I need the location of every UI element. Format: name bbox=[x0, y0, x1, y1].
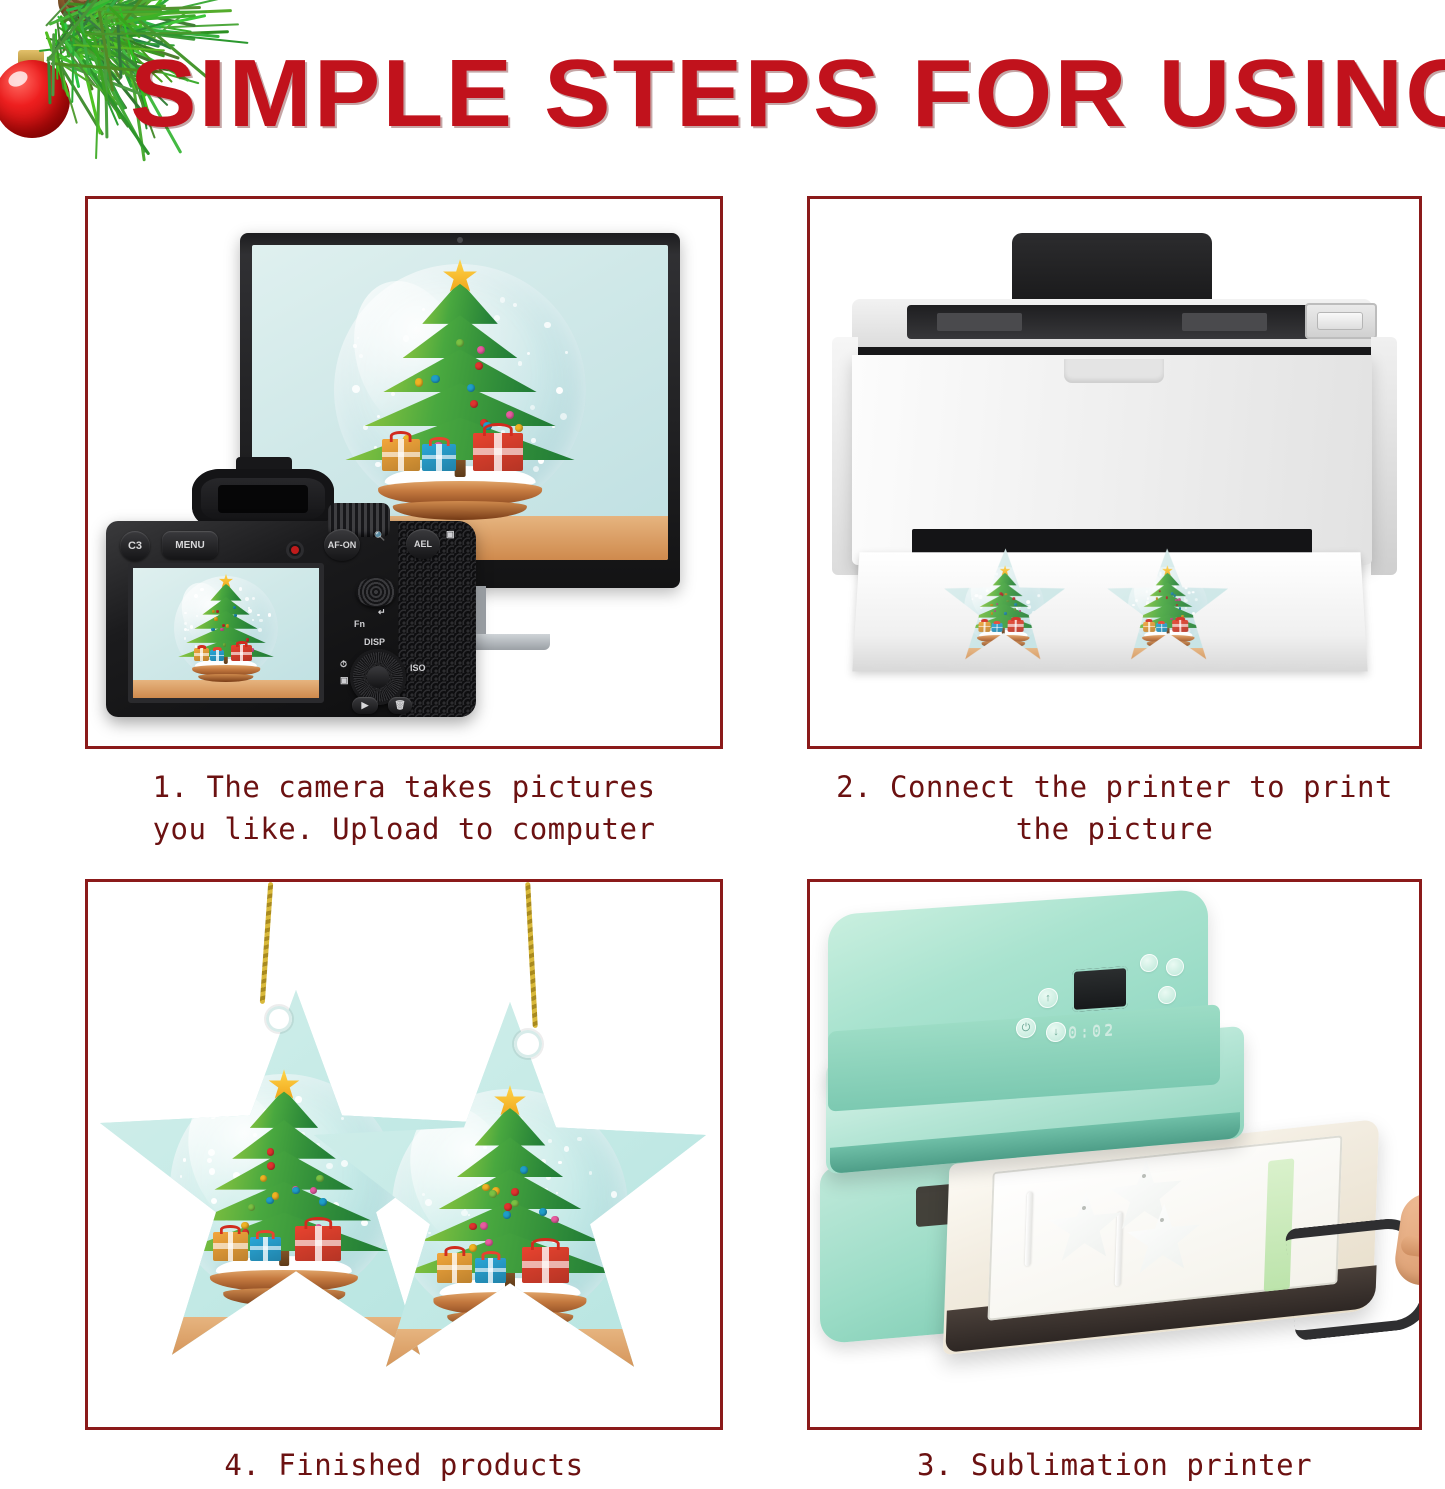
gift-ribbon-horizontal bbox=[213, 1243, 247, 1248]
artwork-gift-box bbox=[210, 650, 224, 661]
snow-dot bbox=[295, 1096, 301, 1102]
artwork-bauble bbox=[489, 1190, 497, 1198]
artwork-bauble bbox=[1004, 593, 1007, 596]
artwork-bauble bbox=[1165, 596, 1168, 599]
ornament-hole-2 bbox=[514, 1030, 542, 1058]
snow-dot bbox=[531, 438, 536, 443]
heat-press-timer-value: 0:02 bbox=[1068, 1020, 1116, 1041]
snow-dot bbox=[611, 1191, 618, 1198]
step-panel-3: ↑ ⏻ ↓ 0:02 bbox=[807, 879, 1422, 1430]
disp-label[interactable]: DISP bbox=[364, 637, 385, 647]
delete-icon[interactable]: 🗑 bbox=[388, 697, 412, 714]
gift-ribbon-horizontal bbox=[1143, 626, 1155, 628]
snow-dot bbox=[468, 1214, 470, 1216]
snow-dot bbox=[1184, 599, 1188, 603]
artwork-bauble bbox=[431, 375, 439, 383]
snow-dot bbox=[1188, 592, 1191, 595]
artwork-bauble bbox=[480, 1222, 488, 1230]
artwork-gift-box bbox=[473, 433, 523, 471]
snow-dot bbox=[987, 581, 989, 583]
step-panel-1: C3 MENU AF-ON AEL 🔍 ▣ Fn ↵ DISP ⏱ ▣ ISO … bbox=[85, 196, 723, 749]
artwork-bauble bbox=[248, 1204, 255, 1211]
gift-ribbon-horizontal bbox=[1156, 627, 1167, 629]
gift-ribbon-horizontal bbox=[991, 627, 1002, 629]
artwork-bauble bbox=[292, 1187, 299, 1194]
snow-dot bbox=[1132, 604, 1134, 606]
snow-dot bbox=[1185, 583, 1189, 586]
snow-dot bbox=[199, 1215, 203, 1219]
snow-dot bbox=[180, 1175, 183, 1178]
iso-label[interactable]: ISO bbox=[410, 663, 426, 673]
artwork-gift-box bbox=[991, 623, 1002, 631]
artwork-bauble bbox=[475, 362, 483, 370]
ael-button[interactable]: AEL bbox=[406, 529, 440, 559]
snow-dot bbox=[259, 619, 263, 623]
artwork-gift-box bbox=[1172, 620, 1188, 632]
gift-bow bbox=[256, 1230, 274, 1238]
artwork-bauble bbox=[1178, 599, 1181, 602]
camera-lcd-screen bbox=[128, 563, 324, 703]
magnify-icon: 🔍 bbox=[374, 531, 385, 542]
snow-dot bbox=[425, 1199, 431, 1205]
artwork-gift-box bbox=[475, 1258, 507, 1283]
artwork-bauble bbox=[241, 1222, 248, 1229]
snow-dot bbox=[361, 1220, 368, 1227]
snow-dot bbox=[253, 1133, 257, 1137]
snow-dot bbox=[513, 303, 517, 307]
gift-ribbon-horizontal bbox=[194, 653, 210, 655]
artwork-bauble bbox=[485, 1239, 493, 1247]
exposure-lock-icon: ▣ bbox=[446, 529, 455, 540]
snow-dot bbox=[483, 1301, 487, 1305]
artwork-bauble bbox=[467, 384, 475, 392]
gift-bow bbox=[389, 431, 412, 442]
artwork-bauble bbox=[539, 1208, 547, 1216]
snow-dot bbox=[187, 629, 189, 631]
artwork-bauble bbox=[234, 614, 237, 617]
artwork-gift-box bbox=[1143, 622, 1155, 632]
gift-bow bbox=[1146, 619, 1153, 622]
snow-dot bbox=[589, 1171, 593, 1175]
snow-dot bbox=[189, 1219, 195, 1225]
fn-button-label[interactable]: Fn bbox=[354, 619, 365, 629]
artwork-gift-box bbox=[213, 1232, 247, 1261]
gift-bow bbox=[1175, 616, 1185, 620]
snow-dot bbox=[533, 466, 539, 472]
artwork-floor bbox=[1106, 649, 1232, 666]
snow-dot bbox=[1131, 610, 1134, 613]
gift-bow bbox=[1011, 616, 1021, 620]
artwork-bauble bbox=[1012, 597, 1015, 600]
snow-dot bbox=[239, 587, 243, 591]
printer-control-panel[interactable] bbox=[1305, 303, 1377, 339]
gift-ribbon-horizontal bbox=[437, 1265, 472, 1270]
snow-dot bbox=[326, 1163, 333, 1170]
artwork-bauble bbox=[1000, 592, 1003, 595]
heat-press-machine: ↑ ⏻ ↓ 0:02 bbox=[820, 892, 1420, 1412]
snow-dot bbox=[194, 594, 198, 598]
snow-dot bbox=[461, 1210, 467, 1216]
gift-ribbon-horizontal bbox=[1008, 624, 1024, 626]
gift-bow bbox=[483, 423, 513, 436]
artwork-floor bbox=[940, 649, 1066, 666]
snow-dot bbox=[180, 1198, 182, 1200]
snow-dot bbox=[1146, 597, 1149, 600]
artwork-bauble bbox=[456, 339, 464, 347]
snow-dot bbox=[609, 1221, 614, 1226]
caption-step-3: 3. Sublimation printer bbox=[807, 1444, 1422, 1486]
snow-dot bbox=[494, 315, 500, 321]
artwork-bauble bbox=[515, 424, 523, 432]
webcam-icon bbox=[457, 237, 463, 243]
snow-dot bbox=[244, 1103, 251, 1110]
artwork-bauble bbox=[223, 643, 226, 646]
gift-ribbon-horizontal bbox=[1172, 624, 1188, 626]
printed-star-design-2 bbox=[1106, 548, 1232, 665]
c3-button[interactable]: C3 bbox=[120, 531, 150, 561]
camera-joystick[interactable] bbox=[356, 577, 396, 607]
gift-ribbon-horizontal bbox=[475, 1268, 507, 1272]
printed-star-design-1 bbox=[940, 548, 1067, 665]
artwork-bauble bbox=[469, 1244, 477, 1252]
artwork-bauble bbox=[482, 1184, 490, 1192]
snow-dot bbox=[1145, 591, 1148, 594]
snow-dot bbox=[353, 344, 356, 347]
artwork-gift-box bbox=[382, 439, 420, 471]
snow-dot bbox=[252, 597, 255, 600]
viewfinder-eyepiece bbox=[218, 485, 308, 513]
playback-icon[interactable]: ▶ bbox=[352, 697, 378, 714]
caption-step-2: 2. Connect the printer to print the pict… bbox=[807, 766, 1422, 850]
artwork-bauble bbox=[246, 638, 249, 641]
snow-dot bbox=[980, 607, 982, 609]
artwork-wood-base-bottom bbox=[223, 1288, 345, 1306]
artwork-gift-box bbox=[522, 1247, 569, 1282]
gift-bow bbox=[531, 1238, 559, 1250]
gift-ribbon-horizontal bbox=[295, 1240, 341, 1246]
ornament-cord-2 bbox=[525, 882, 538, 1028]
page-title: SIMPLE STEPS FOR USING bbox=[130, 46, 1445, 142]
snow-dot bbox=[518, 361, 523, 366]
step-panel-2 bbox=[807, 196, 1422, 749]
snow-dot bbox=[428, 1232, 430, 1234]
gift-ribbon-horizontal bbox=[979, 626, 991, 628]
sublimation-printer bbox=[832, 233, 1397, 693]
artwork-gift-box bbox=[295, 1226, 341, 1260]
snow-dot bbox=[564, 1146, 569, 1151]
snow-dot bbox=[531, 1300, 533, 1302]
artwork-bauble bbox=[990, 604, 993, 607]
printer-side-right bbox=[1371, 337, 1397, 575]
artwork-bauble bbox=[214, 617, 217, 620]
snow-dot bbox=[359, 354, 363, 358]
snow-dot bbox=[268, 613, 271, 616]
snow-dot bbox=[1029, 620, 1032, 623]
gift-bow bbox=[305, 1217, 332, 1229]
artwork-wood-base-bottom bbox=[447, 1311, 573, 1329]
artwork-bauble bbox=[1006, 600, 1009, 603]
drive-mode-icon: ▣ bbox=[340, 675, 349, 686]
artwork-gift-box bbox=[231, 645, 252, 661]
snow-dot bbox=[565, 351, 567, 353]
snow-dot bbox=[190, 625, 193, 628]
artwork-gift-box bbox=[250, 1237, 281, 1261]
printer-slot-left bbox=[937, 313, 1022, 331]
snow-dot bbox=[971, 598, 973, 600]
artwork-bauble bbox=[272, 1192, 279, 1199]
printed-snow-globe-art bbox=[940, 548, 1067, 665]
caption-step-1: 1. The camera takes pictures you like. U… bbox=[85, 766, 723, 850]
snow-dot bbox=[1037, 594, 1040, 597]
mirrorless-camera: C3 MENU AF-ON AEL 🔍 ▣ Fn ↵ DISP ⏱ ▣ ISO … bbox=[106, 467, 476, 717]
artwork-bauble bbox=[511, 1188, 519, 1196]
snow-dot bbox=[1192, 591, 1194, 593]
snow-dot bbox=[258, 628, 262, 632]
snow-dot bbox=[207, 1158, 212, 1163]
snow-dot bbox=[500, 297, 505, 302]
back-arrow-icon: ↵ bbox=[378, 607, 386, 618]
gift-ribbon-horizontal bbox=[382, 452, 420, 458]
gift-bow bbox=[220, 1225, 241, 1235]
snow-dot bbox=[1026, 600, 1030, 604]
printer-cover-handle[interactable] bbox=[1064, 359, 1164, 383]
gift-ribbon-horizontal bbox=[250, 1246, 281, 1250]
printed-paper-sheet bbox=[852, 552, 1367, 671]
artwork-bauble bbox=[222, 624, 225, 627]
step-panel-4 bbox=[85, 879, 723, 1430]
gift-bow bbox=[235, 641, 247, 646]
artwork-bauble bbox=[1173, 594, 1176, 597]
artwork-bauble bbox=[211, 628, 214, 631]
artwork-bauble bbox=[520, 1166, 528, 1174]
snow-dot bbox=[544, 322, 550, 328]
gift-bow bbox=[994, 621, 1001, 624]
printed-snow-globe-art bbox=[1106, 548, 1232, 665]
ornament-cord-1 bbox=[260, 882, 273, 1004]
snow-dot bbox=[422, 1193, 425, 1196]
artwork-gift-box bbox=[1008, 620, 1024, 632]
snow-dot bbox=[341, 1160, 348, 1167]
gift-bow bbox=[1158, 621, 1165, 624]
snow-dot bbox=[1199, 611, 1201, 613]
snow-dot bbox=[995, 573, 998, 575]
snow-dot bbox=[558, 1161, 561, 1164]
artwork-bauble bbox=[319, 1198, 326, 1205]
gift-bow bbox=[429, 437, 449, 446]
snow-dot bbox=[1194, 598, 1197, 601]
artwork-gift-box bbox=[1156, 623, 1167, 631]
snow-dot bbox=[1027, 605, 1031, 609]
gift-ribbon-horizontal bbox=[422, 455, 456, 460]
printer-slot-right bbox=[1182, 313, 1267, 331]
gift-bow bbox=[481, 1251, 500, 1259]
artwork-bauble bbox=[226, 624, 229, 627]
snow-dot bbox=[1192, 612, 1195, 615]
self-timer-icon: ⏱ bbox=[340, 659, 347, 670]
snow-dot bbox=[352, 385, 360, 393]
snow-dot bbox=[979, 595, 983, 598]
artwork-bauble bbox=[1014, 604, 1017, 607]
gift-bow bbox=[981, 619, 988, 622]
artwork-bauble bbox=[316, 1175, 323, 1182]
caption-step-4: 4. Finished products bbox=[85, 1444, 723, 1486]
menu-button[interactable]: MENU bbox=[162, 531, 218, 559]
gift-ribbon-horizontal bbox=[210, 655, 224, 657]
snow-dot bbox=[210, 1113, 216, 1119]
snow-dot bbox=[548, 1139, 552, 1143]
gift-bow bbox=[444, 1246, 465, 1256]
artwork-bauble bbox=[415, 378, 423, 386]
artwork-gift-box bbox=[437, 1253, 472, 1282]
snow-dot bbox=[1148, 577, 1151, 580]
artwork-bauble bbox=[504, 1203, 512, 1211]
af-on-button[interactable]: AF-ON bbox=[324, 529, 360, 561]
gift-bow bbox=[213, 647, 221, 651]
snow-dot bbox=[381, 1212, 386, 1217]
snow-dot bbox=[601, 1230, 604, 1233]
artwork-gift-box bbox=[978, 622, 990, 632]
gift-ribbon-horizontal bbox=[522, 1261, 569, 1267]
title-bar: SIMPLE STEPS FOR USING bbox=[0, 0, 1445, 175]
heat-press-display bbox=[1072, 966, 1128, 1012]
artwork-bauble bbox=[503, 1211, 511, 1219]
snow-dot bbox=[209, 1168, 215, 1174]
artwork-bauble bbox=[267, 1162, 274, 1169]
artwork-bauble bbox=[220, 628, 223, 631]
artwork-floor bbox=[133, 680, 319, 698]
snow-dot bbox=[1184, 597, 1186, 599]
artwork-gift-box bbox=[194, 648, 210, 661]
gift-bow bbox=[197, 645, 206, 649]
artwork-wood-base-bottom bbox=[1147, 641, 1190, 647]
snow-dot bbox=[1035, 613, 1038, 616]
ornament-hole-1 bbox=[266, 1006, 292, 1032]
snow-dot bbox=[422, 308, 425, 311]
record-button[interactable] bbox=[286, 541, 304, 559]
artwork-floor bbox=[310, 1329, 710, 1382]
artwork-bauble bbox=[1004, 612, 1007, 615]
artwork-wood-base-bottom bbox=[982, 641, 1025, 647]
artwork-bauble bbox=[267, 1148, 274, 1155]
gift-ribbon-horizontal bbox=[231, 652, 252, 655]
snow-dot bbox=[1032, 611, 1036, 614]
gift-ribbon-horizontal bbox=[473, 448, 523, 455]
snow-dot bbox=[391, 392, 395, 396]
